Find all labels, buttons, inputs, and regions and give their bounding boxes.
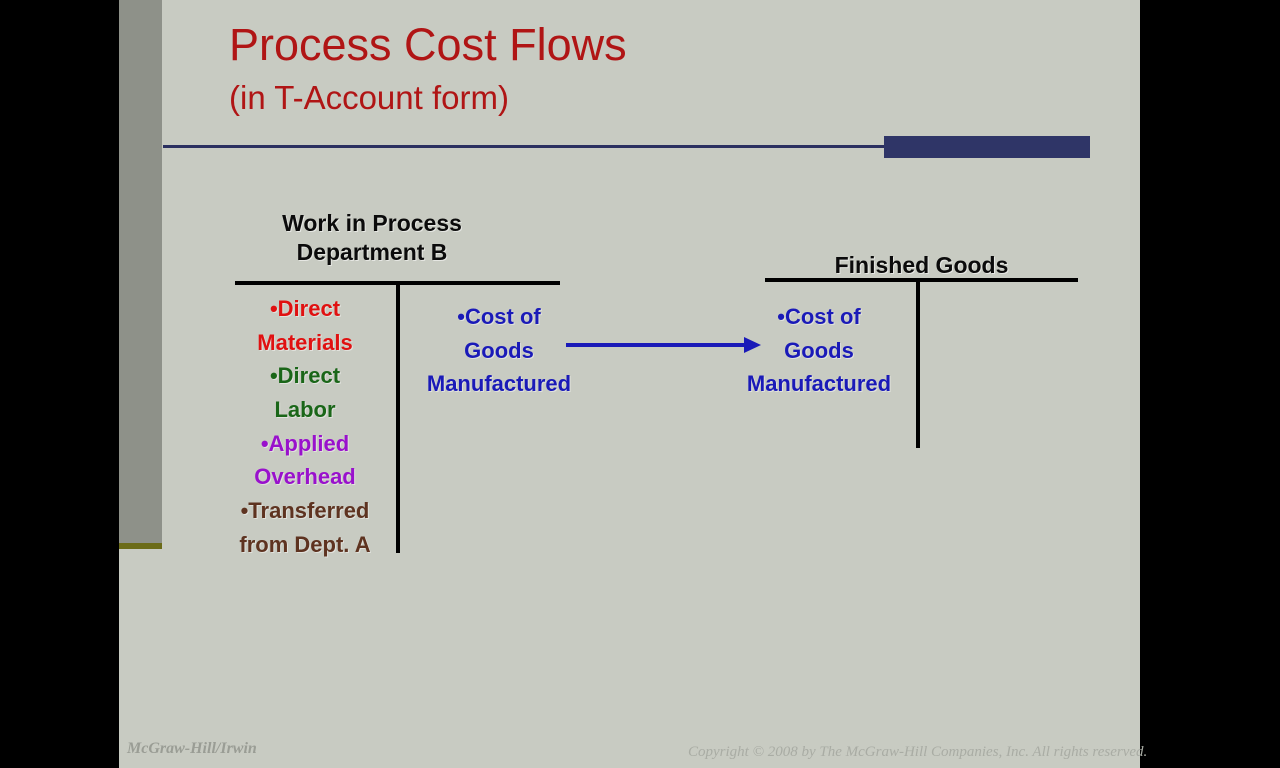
left-olive-accent-bar (119, 543, 162, 549)
page-subtitle: (in T-Account form) (229, 81, 929, 114)
work-in-process-debit-column: •Direct Materials •Direct Labor •Applied… (214, 292, 396, 561)
finished-goods-t-horizontal-line (765, 278, 1078, 282)
slide-root: Process Cost Flows (in T-Account form) W… (0, 0, 1280, 768)
entry-direct-labor: •Direct Labor (214, 359, 396, 426)
copyright-notice: Copyright © 2008 by The McGraw-Hill Comp… (688, 744, 1147, 761)
entry-direct-materials: •Direct Materials (214, 292, 396, 359)
finished-goods-t-vertical-line (916, 280, 920, 448)
finished-goods-account-header: Finished Goods (765, 251, 1078, 280)
title-block: Process Cost Flows (in T-Account form) (229, 22, 929, 114)
page-title: Process Cost Flows (229, 22, 929, 67)
left-decorative-band (119, 0, 162, 543)
entry-cost-of-goods-manufactured-fg: •Cost of Goods Manufactured (722, 300, 916, 401)
finished-goods-debit-column: •Cost of Goods Manufactured (722, 300, 916, 401)
entry-applied-overhead: •Applied Overhead (214, 427, 396, 494)
entry-transferred-from-dept-a: •Transferred from Dept. A (214, 494, 396, 561)
title-divider-block (884, 136, 1090, 158)
work-in-process-account-header: Work in Process Department B (235, 209, 509, 268)
publisher-credit: McGraw-Hill/Irwin (127, 740, 257, 758)
work-in-process-t-vertical-line (396, 283, 400, 553)
